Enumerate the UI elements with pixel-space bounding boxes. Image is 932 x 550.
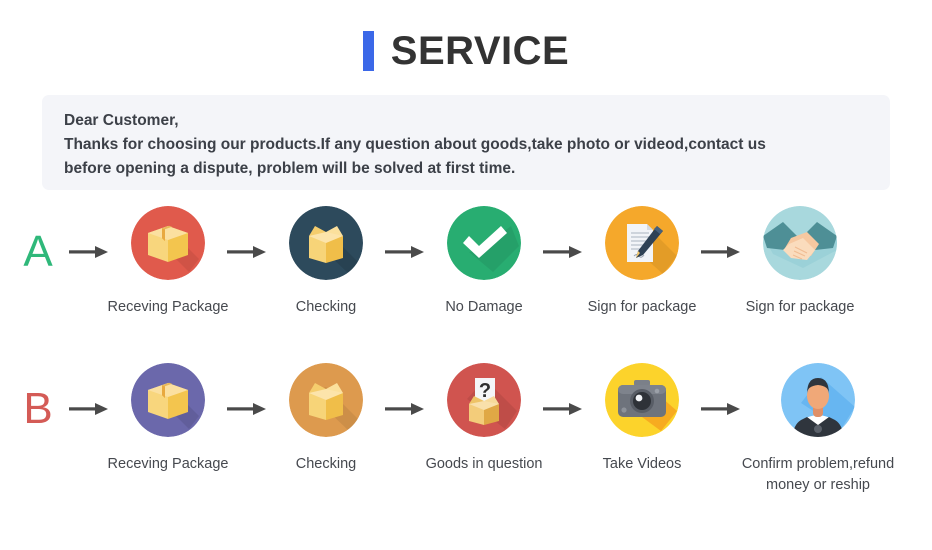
step-label: Goods in question — [426, 454, 543, 475]
package-box-icon — [131, 363, 205, 437]
step-label: Sign for package — [746, 297, 855, 318]
arrow-icon — [220, 206, 274, 298]
arrow-icon — [378, 363, 432, 455]
customer-person-icon — [781, 363, 855, 437]
notice-line-3: before opening a dispute, problem will b… — [64, 157, 868, 181]
handshake-icon — [763, 206, 837, 280]
arrow-icon — [536, 206, 590, 298]
flow-letter-a: A — [0, 206, 62, 298]
flow-letter-b: B — [0, 363, 62, 455]
step-label: Receving Package — [108, 454, 229, 475]
flow-step: Take Videos — [590, 363, 694, 475]
page-title: SERVICE — [391, 31, 569, 71]
question-box-icon: ? — [447, 363, 521, 437]
arrow-icon — [62, 206, 116, 298]
flow-step: Receving Package — [116, 363, 220, 475]
arrow-icon — [694, 206, 748, 298]
step-label: Receving Package — [108, 297, 229, 318]
step-label: Confirm problem,refund money or reship — [732, 454, 904, 496]
step-label: Sign for package — [588, 297, 697, 318]
open-box-icon — [289, 206, 363, 280]
arrow-icon — [536, 363, 590, 455]
title-accent-bar — [363, 31, 374, 71]
flow-step: Confirm problem,refund money or reship — [748, 363, 888, 496]
arrow-icon — [220, 363, 274, 455]
customer-notice-box: Dear Customer, Thanks for choosing our p… — [42, 95, 890, 190]
notice-line-2: Thanks for choosing our products.If any … — [64, 133, 868, 157]
flow-step: ? Goods in question — [432, 363, 536, 475]
step-label: Take Videos — [603, 454, 682, 475]
notice-line-1: Dear Customer, — [64, 109, 868, 133]
arrow-icon — [378, 206, 432, 298]
service-info-page: SERVICE Dear Customer, Thanks for choosi… — [0, 0, 932, 550]
arrow-icon — [62, 363, 116, 455]
flow-step: Sign for package — [590, 206, 694, 318]
document-pen-icon — [605, 206, 679, 280]
page-header: SERVICE — [0, 22, 932, 80]
flow-step: Receving Package — [116, 206, 220, 318]
flow-step: No Damage — [432, 206, 536, 318]
flow-row-b: B Receving Package — [0, 363, 932, 496]
check-mark-icon — [447, 206, 521, 280]
step-label: No Damage — [445, 297, 522, 318]
arrow-icon — [694, 363, 748, 455]
flow-step: Sign for package — [748, 206, 852, 318]
flow-row-a: A Receving Package — [0, 206, 932, 318]
open-box-icon — [289, 363, 363, 437]
flow-step: Checking — [274, 363, 378, 475]
step-label: Checking — [296, 297, 356, 318]
step-label: Checking — [296, 454, 356, 475]
camera-icon — [605, 363, 679, 437]
package-box-icon — [131, 206, 205, 280]
flow-step: Checking — [274, 206, 378, 318]
